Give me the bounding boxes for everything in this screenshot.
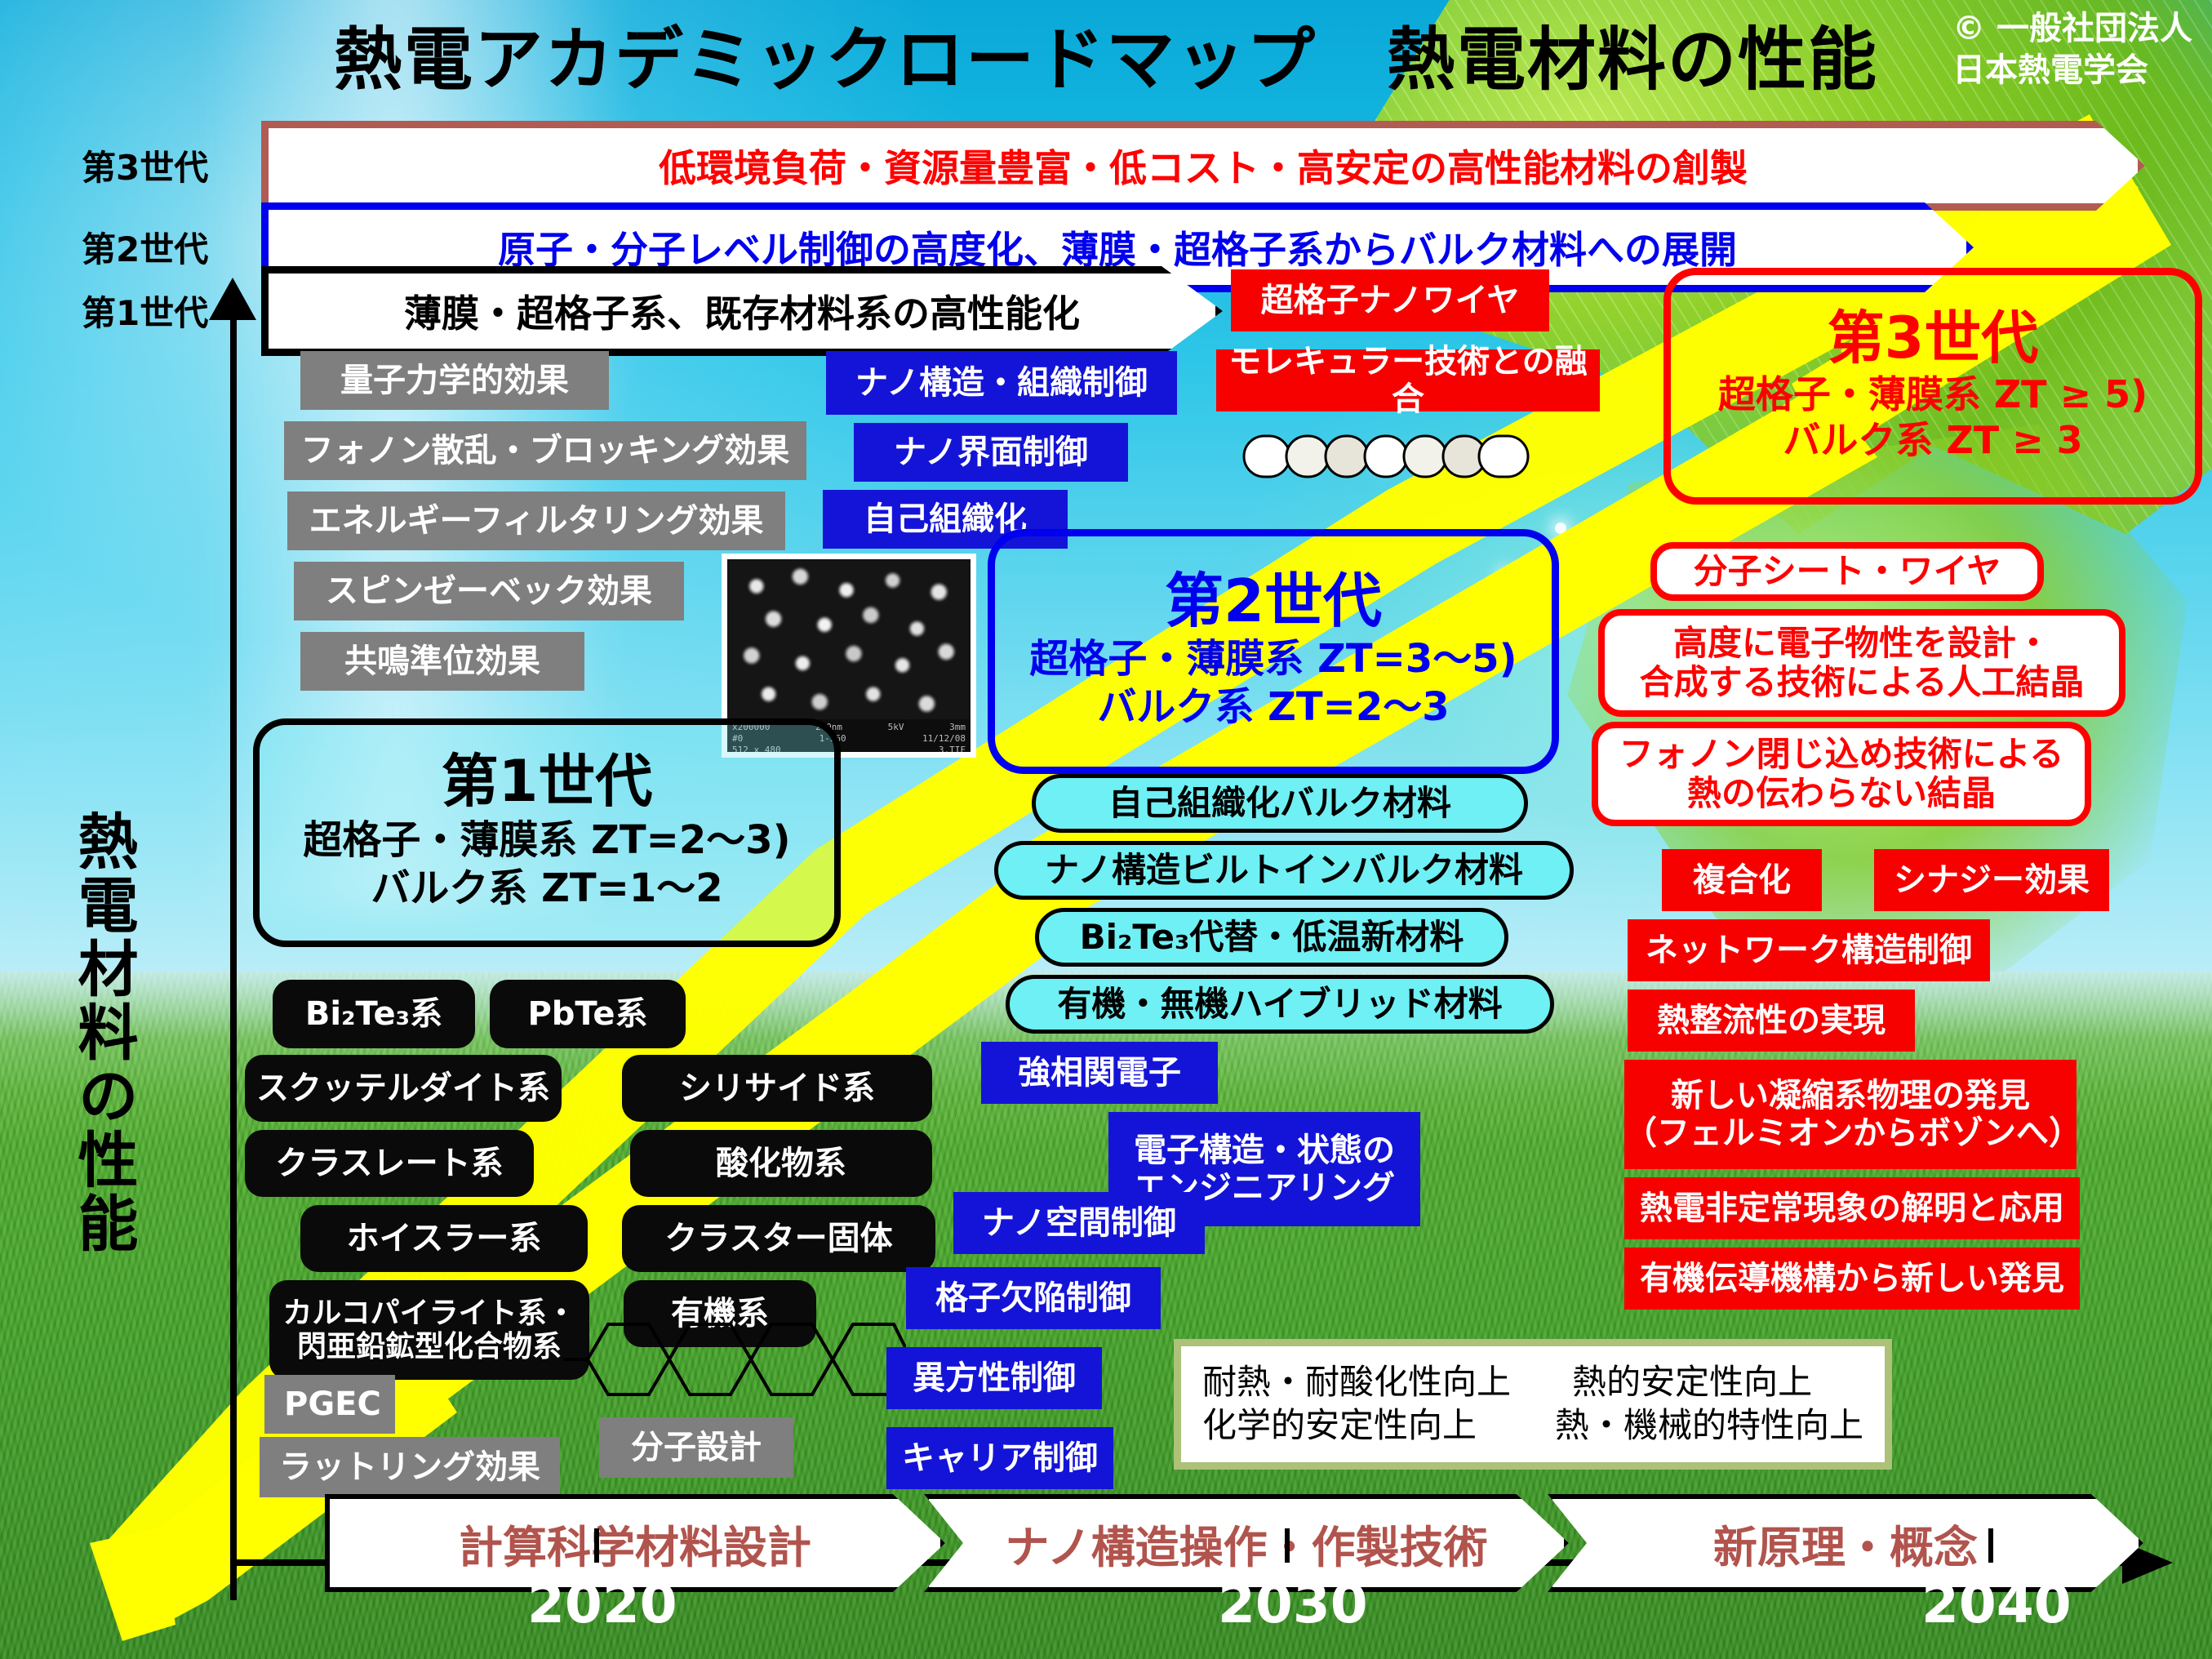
effect-chip-resonant-level: 共鳴準位効果 xyxy=(300,632,584,691)
material-chip-bi2te3: Bi₂Te₃系 xyxy=(273,980,475,1048)
y-axis-label: 熱電材料の性能 xyxy=(49,620,147,1445)
red-chip-composite: 複合化 xyxy=(1662,849,1822,911)
nano-chip-structure-control: ナノ構造・組織制御 xyxy=(826,351,1177,415)
sem-date: 11/12/08 xyxy=(922,733,966,745)
copyright-line-1: © 一般社団法人 xyxy=(1952,8,2192,50)
capability-heat-oxidation: 耐熱・耐酸化性向上 xyxy=(1202,1361,1539,1404)
material-chip-cluster-solid: クラスター固体 xyxy=(622,1205,935,1272)
generation-1-summary-line2: バルク系 ZT=1〜2 xyxy=(371,865,722,913)
copyright-notice: © 一般社団法人 日本熱電学会 xyxy=(1952,8,2192,91)
blue-chip-anisotropy-control: 異方性制御 xyxy=(886,1347,1102,1409)
red-pill-phonon-confinement-crystal: フォノン閉じ込め技術による 熱の伝わらない結晶 xyxy=(1592,722,2091,826)
material-chip-skutterudite: スクッテルダイト系 xyxy=(245,1055,562,1122)
nano-chip-interface-control: ナノ界面制御 xyxy=(854,423,1128,482)
tick-2040 xyxy=(1988,1528,1993,1563)
sem-distance: 3mm xyxy=(949,722,966,733)
material-chip-silicide: シリサイド系 xyxy=(622,1055,932,1122)
generation-3-summary-line2: バルク系 ZT ≥ 3 xyxy=(1783,417,2082,463)
blue-chip-strongly-correlated-electrons: 強相関電子 xyxy=(981,1042,1218,1104)
copyright-line-2: 日本熱電学会 xyxy=(1952,50,2192,91)
red-pill-designed-artificial-crystal: 高度に電子物性を設計・ 合成する技術による人工結晶 xyxy=(1598,609,2125,717)
material-chip-clathrate: クラスレート系 xyxy=(245,1130,534,1197)
generation-1-summary-box: 第1世代 超格子・薄膜系 ZT=2〜3) バルク系 ZT=1〜2 xyxy=(253,718,841,947)
generation-2-summary-box: 第2世代 超格子・薄膜系 ZT=3〜5) バルク系 ZT=2〜3 xyxy=(988,529,1559,774)
capability-thermal-stability: 熱的安定性向上 xyxy=(1572,1361,1863,1404)
effect-chip-quantum: 量子力学的効果 xyxy=(300,351,609,410)
y-axis-arrowhead xyxy=(206,278,263,327)
generation-1-banner: 薄膜・超格子系、既存材料系の高性能化 xyxy=(261,266,1223,356)
red-pill-molecular-sheet-wire: 分子シート・ワイヤ xyxy=(1650,542,2044,601)
blue-chip-carrier-control: キャリア制御 xyxy=(886,1427,1113,1489)
material-pill-bi2te3-alternative: Bi₂Te₃代替・低温新材料 xyxy=(1035,908,1508,967)
capability-row-2: 化学的安定性向上 熱・機械的特性向上 xyxy=(1202,1404,1863,1448)
generation-1-summary-line1: 超格子・薄膜系 ZT=2〜3) xyxy=(303,816,790,865)
red-chip-organic-conduction-discovery: 有機伝導機構から新しい発見 xyxy=(1624,1248,2080,1310)
tick-2020 xyxy=(594,1528,599,1563)
capability-chemical-stability: 化学的安定性向上 xyxy=(1202,1404,1522,1448)
generation-2-summary-title: 第2世代 xyxy=(1165,572,1382,630)
material-pill-self-organized-bulk: 自己組織化バルク材料 xyxy=(1032,774,1528,833)
year-label-2030: 2030 xyxy=(1218,1572,1368,1635)
red-chip-network-structure-control: ネットワーク構造制御 xyxy=(1628,919,1990,981)
blue-chip-nanospace-control: ナノ空間制御 xyxy=(953,1192,1205,1254)
effect-chip-phonon-scattering: フォノン散乱・ブロッキング効果 xyxy=(284,421,806,480)
generation-2-summary-line1: 超格子・薄膜系 ZT=3〜5) xyxy=(1029,635,1517,683)
year-label-2020: 2020 xyxy=(527,1572,677,1635)
gray-chip-rattling-effect: ラットリング効果 xyxy=(260,1437,560,1497)
red-chip-nonsteady-thermoelectric: 熱電非定常現象の解明と応用 xyxy=(1624,1177,2080,1239)
generation-3-banner: 低環境負荷・資源量豊富・低コスト・高安定の高性能材料の創製 xyxy=(261,121,2145,211)
effect-chip-spin-seebeck: スピンゼーベック効果 xyxy=(294,562,684,620)
gray-chip-molecular-design: 分子設計 xyxy=(599,1417,793,1478)
material-chip-oxide: 酸化物系 xyxy=(630,1130,932,1197)
sem-file: 3.TIF xyxy=(939,745,966,756)
gray-chip-pgec: PGEC xyxy=(264,1375,395,1434)
red-chip-molecular-fusion: モレキュラー技術との融合 xyxy=(1216,349,1600,411)
generation-2-summary-line2: バルク系 ZT=2〜3 xyxy=(1097,683,1449,732)
material-pill-organic-inorganic-hybrid: 有機・無機ハイブリッド材料 xyxy=(1006,975,1554,1034)
red-chip-thermal-rectification: 熱整流性の実現 xyxy=(1628,990,1915,1052)
generation-3-summary-box: 第3世代 超格子・薄膜系 ZT ≥ 5) バルク系 ZT ≥ 3 xyxy=(1663,268,2202,505)
generation-3-summary-title: 第3世代 xyxy=(1828,309,2039,367)
roadmap-canvas: 熱電アカデミックロードマップ 熱電材料の性能 © 一般社団法人 日本熱電学会 熱… xyxy=(0,0,2212,1659)
generation-2-label: 第2世代 xyxy=(82,222,208,272)
material-chip-pbte: PbTe系 xyxy=(490,980,686,1048)
molecular-hexagon-chain-icon xyxy=(563,1306,906,1412)
y-axis-line xyxy=(230,294,237,1600)
capability-row-1: 耐熱・耐酸化性向上 熱的安定性向上 xyxy=(1202,1361,1863,1404)
red-chip-superlattice-nanowire: 超格子ナノワイヤ xyxy=(1231,269,1549,331)
sparkle-icon xyxy=(1555,523,1566,534)
material-chip-chalcopyrite-zincblende: カルコパイライト系・ 閃亜鉛鉱型化合物系 xyxy=(269,1280,589,1380)
material-pill-nanostructured-bulk: ナノ構造ビルトインバルク材料 xyxy=(994,841,1574,900)
generation-1-summary-title: 第1世代 xyxy=(442,753,653,810)
generation-1-label: 第1世代 xyxy=(82,286,208,336)
generation-3-summary-line1: 超格子・薄膜系 ZT ≥ 5) xyxy=(1718,371,2148,417)
tick-2030 xyxy=(1285,1528,1290,1563)
year-label-2040: 2040 xyxy=(1921,1572,2072,1635)
red-chip-synergy-effect: シナジー効果 xyxy=(1874,849,2109,911)
sem-kv: 5kV xyxy=(888,722,904,733)
blue-chip-lattice-defect-control: 格子欠陥制御 xyxy=(906,1267,1161,1329)
page-title: 熱電アカデミックロードマップ 熱電材料の性能 xyxy=(0,5,2212,104)
red-chip-new-condensed-matter-physics: 新しい凝縮系物理の発見 （フェルミオンからボゾンへ） xyxy=(1624,1060,2077,1169)
superlattice-nanowire-icon xyxy=(1241,431,1535,483)
capability-thermo-mechanical: 熱・機械的特性向上 xyxy=(1555,1404,1863,1448)
capability-improvement-box: 耐熱・耐酸化性向上 熱的安定性向上 化学的安定性向上 熱・機械的特性向上 xyxy=(1174,1339,1892,1470)
material-chip-heusler: ホイスラー系 xyxy=(300,1205,588,1272)
effect-chip-energy-filtering: エネルギーフィルタリング効果 xyxy=(287,491,785,550)
generation-3-label: 第3世代 xyxy=(82,140,208,190)
